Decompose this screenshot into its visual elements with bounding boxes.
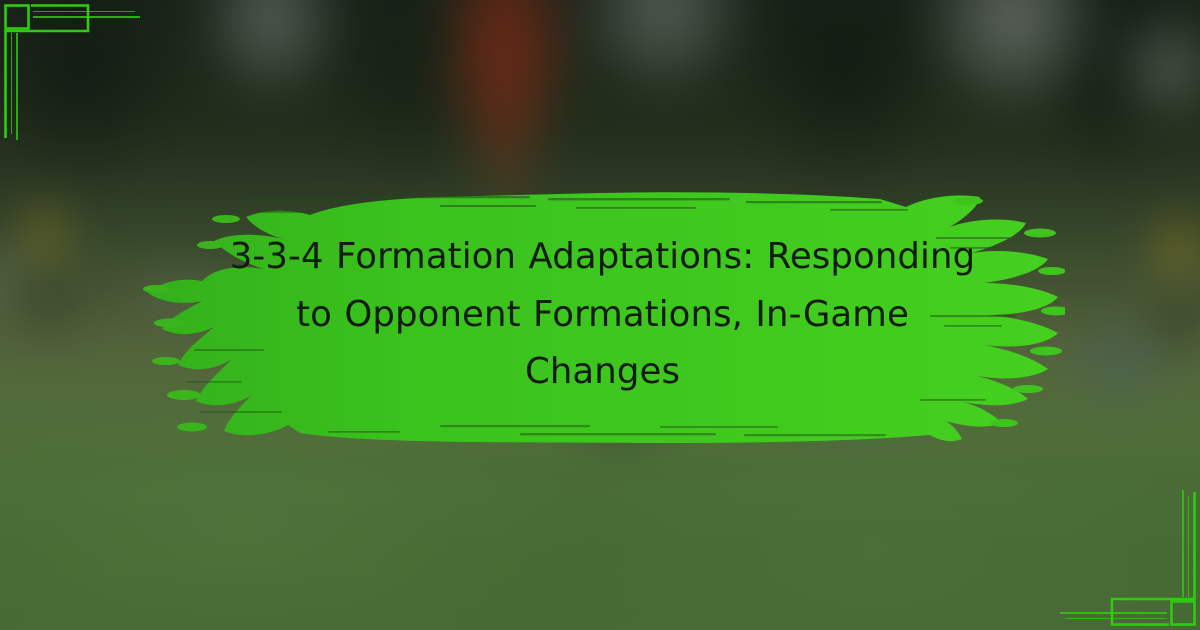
page-title: 3-3-4 Formation Adaptations: Responding … <box>140 185 1065 450</box>
page-title-text: 3-3-4 Formation Adaptations: Responding … <box>218 228 987 401</box>
title-banner: 3-3-4 Formation Adaptations: Responding … <box>140 185 1065 450</box>
share-card-canvas: 3-3-4 Formation Adaptations: Responding … <box>0 0 1200 630</box>
